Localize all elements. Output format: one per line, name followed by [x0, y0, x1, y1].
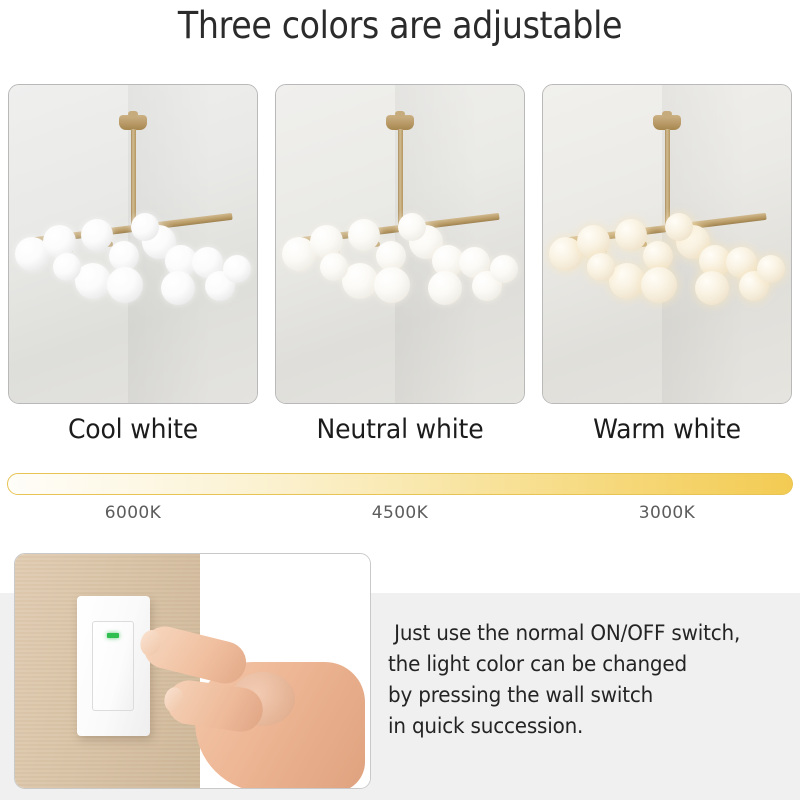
light-globe [161, 271, 195, 305]
light-globe [320, 253, 348, 281]
ceiling-canopy-icon [119, 115, 147, 130]
light-globe [223, 255, 251, 283]
hand-graphic [135, 614, 365, 789]
panel-warm-white [542, 84, 792, 404]
wall-switch-photo [14, 553, 371, 789]
light-globe [107, 267, 143, 303]
label-cool-white: Cool white [17, 414, 250, 459]
indicator-led-icon [107, 633, 119, 638]
instruction-caption: Just use the normal ON/OFF switch, the l… [388, 618, 788, 742]
switch-rocker [92, 621, 134, 711]
panel-cool-white [8, 84, 258, 404]
label-neutral-white: Neutral white [284, 414, 517, 459]
panel-neutral-white [275, 84, 525, 404]
temperature-tick-row: 6000K 4500K 3000K [8, 503, 792, 523]
tick-3000k: 3000K [542, 503, 792, 523]
ceiling-canopy-icon [653, 115, 681, 130]
color-comparison-panels [8, 84, 792, 404]
drop-rod [131, 129, 136, 227]
light-globe [665, 213, 693, 241]
caption-line-4: in quick succession. [388, 711, 768, 742]
light-globe [615, 219, 647, 251]
drop-rod [398, 129, 403, 227]
infographic-page: Three colors are adjustable [0, 0, 800, 800]
tick-4500k: 4500K [275, 503, 525, 523]
drop-rod [665, 129, 670, 227]
light-globe [490, 255, 518, 283]
light-globe [428, 271, 462, 305]
label-warm-white: Warm white [551, 414, 784, 459]
light-globe [81, 219, 113, 251]
caption-line-2: the light color can be changed [388, 649, 768, 680]
caption-line-1: Just use the normal ON/OFF switch, [388, 618, 768, 649]
tick-6000k: 6000K [8, 503, 258, 523]
light-globe [757, 255, 785, 283]
light-globe [695, 271, 729, 305]
chandelier-neutral [276, 85, 524, 403]
light-globe [374, 267, 410, 303]
chandelier-cool [9, 85, 257, 403]
page-title: Three colors are adjustable [40, 4, 760, 47]
index-finger [139, 622, 250, 688]
panel-labels-row: Cool white Neutral white Warm white [8, 414, 792, 459]
caption-line-3: by pressing the wall switch [388, 680, 768, 711]
ceiling-canopy-icon [386, 115, 414, 130]
light-globe [398, 213, 426, 241]
chandelier-warm [543, 85, 791, 403]
light-globe [587, 253, 615, 281]
light-globe [641, 267, 677, 303]
color-temperature-gradient-bar [7, 473, 793, 495]
light-globe [131, 213, 159, 241]
light-globe [53, 253, 81, 281]
light-globe [348, 219, 380, 251]
